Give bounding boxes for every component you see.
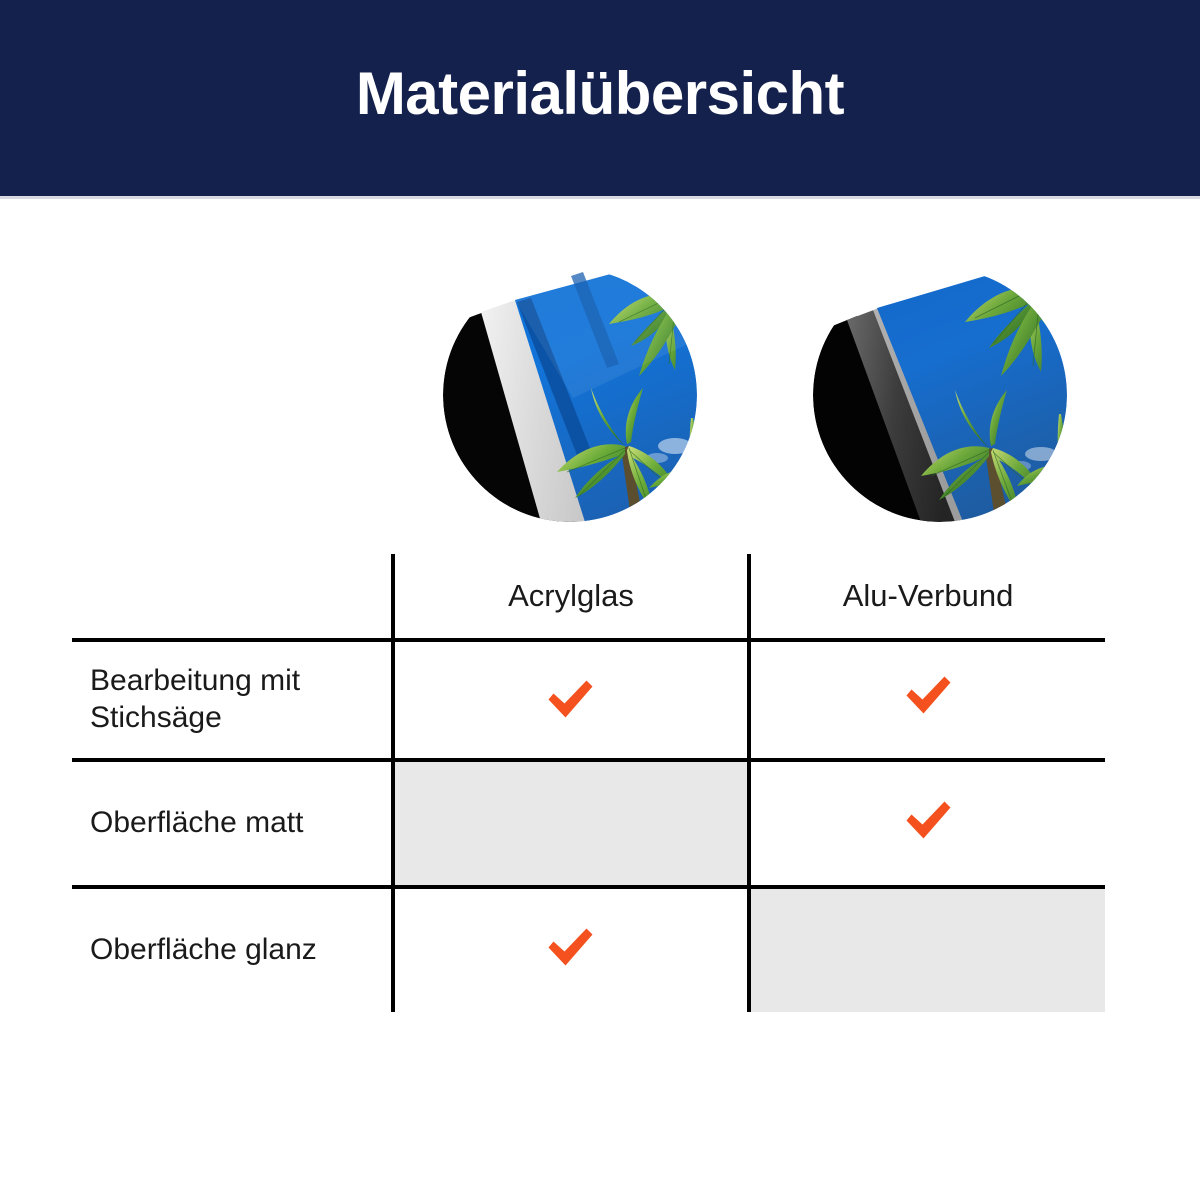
check-icon — [543, 925, 597, 969]
table-column-header-alu-verbund: Alu-Verbund — [751, 554, 1105, 638]
alu-verbund-sample-photo — [813, 268, 1067, 522]
check-icon — [901, 673, 955, 717]
row-label-text: Bearbeitung mit Stichsäge — [90, 663, 300, 736]
page-title: Materialübersicht — [356, 64, 844, 124]
shaded-cell — [751, 889, 1105, 1012]
shaded-cell — [395, 762, 747, 885]
table-row-label-bearbeitung-mit-stichsaege: Bearbeitung mit Stichsäge — [90, 642, 390, 758]
product-preview-row — [0, 268, 1200, 524]
product-preview-acrylglas — [443, 268, 697, 522]
table-column-header-acrylglas: Acrylglas — [395, 554, 747, 638]
material-comparison-table: Acrylglas Alu-Verbund Bearbeitung mit St… — [72, 554, 1105, 1012]
acrylglas-sample-photo — [443, 268, 697, 522]
column-header-label: Acrylglas — [508, 578, 634, 614]
check-icon — [543, 677, 597, 721]
row-label-text: Oberfläche matt — [90, 805, 303, 842]
row-label-text: Oberfläche glanz — [90, 932, 317, 969]
table-row-label-oberflaeche-matt: Oberfläche matt — [90, 762, 390, 885]
product-preview-alu-verbund — [813, 268, 1067, 522]
table-row-label-oberflaeche-glanz: Oberfläche glanz — [90, 889, 390, 1012]
column-header-label: Alu-Verbund — [843, 578, 1014, 614]
row-label-line: Stichsäge — [90, 701, 222, 734]
check-icon — [901, 798, 955, 842]
row-label-line: Bearbeitung mit — [90, 664, 300, 697]
page-header: Materialübersicht — [0, 0, 1200, 196]
header-divider — [0, 196, 1200, 199]
